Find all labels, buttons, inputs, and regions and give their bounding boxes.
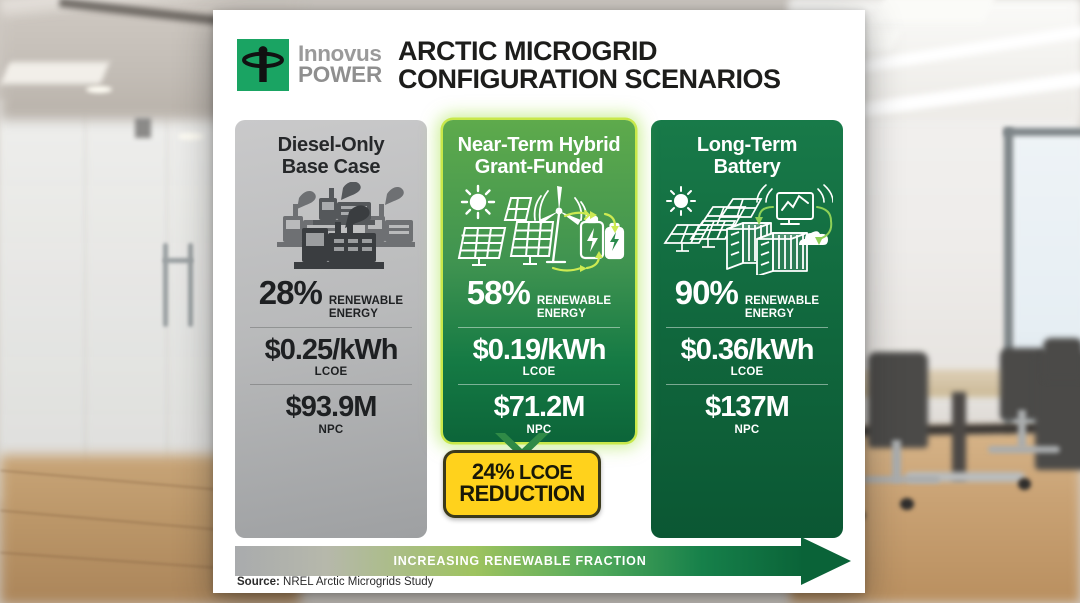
card-title-line1: Near-Term Hybrid: [451, 134, 627, 156]
card-title: Long-Term Battery: [651, 120, 843, 178]
scenario-card-diesel-only-base-case[interactable]: Diesel-Only Base Case: [235, 120, 427, 538]
background-door-handle-bar: [163, 258, 193, 263]
lcoe-label: LCOE: [664, 366, 830, 378]
source-label: Source:: [237, 576, 280, 588]
background-glass-panel: [0, 100, 87, 500]
card-title-line1: Diesel-Only: [243, 134, 419, 156]
background-caster: [900, 498, 914, 510]
lcoe-label: LCOE: [248, 366, 414, 378]
card-title-line2: Battery: [659, 156, 835, 178]
renewable-percent-label: RENEWABLE ENERGY: [329, 295, 403, 321]
background-chair-stem: [1018, 410, 1026, 448]
renewable-percent-value: 28%: [259, 276, 322, 309]
background-door-handle: [188, 243, 193, 327]
brand-wordmark: Innovus POWER: [298, 44, 382, 86]
npc-stat: $93.9M NPC: [248, 385, 414, 441]
lcoe-stat: $0.36/kWh LCOE: [664, 328, 830, 384]
background-door-handle: [163, 243, 168, 327]
background-ceiling-light-panel: [1, 62, 110, 84]
renewable-percent-label: RENEWABLE ENERGY: [537, 295, 611, 321]
lcoe-value: $0.19/kWh: [456, 335, 622, 365]
card-stats: 28% RENEWABLE ENERGY $0.25/kWh LCOE $93.…: [235, 276, 427, 442]
background-downlight: [86, 86, 112, 93]
page-title-line1: ARCTIC MICROGRID: [398, 37, 781, 65]
background-glass-panel: [86, 100, 169, 500]
renewable-percent-value: 90%: [675, 276, 738, 309]
npc-value: $93.9M: [248, 392, 414, 422]
background-caster: [1018, 478, 1031, 490]
card-title-line1: Long-Term: [659, 134, 835, 156]
background-table-leg: [952, 392, 966, 480]
page-title-line2: CONFIGURATION SCENARIOS: [398, 65, 781, 93]
scenario-card-near-term-hybrid-grant-funded[interactable]: Near-Term Hybrid Grant-Funded: [443, 120, 635, 442]
npc-stat: $137M NPC: [664, 385, 830, 441]
solar-battery-storage-monitoring-icon: [651, 180, 843, 276]
npc-value: $137M: [664, 392, 830, 422]
card-title-line2: Grant-Funded: [451, 156, 627, 178]
background-wall-fixture: [135, 118, 151, 138]
diesel-generators-icon: [235, 180, 427, 276]
callout-percent: 24%: [472, 459, 514, 484]
background-ceiling-tile: [874, 0, 997, 22]
right-arrow-icon: [801, 537, 851, 585]
source-value: NREL Arctic Microgrids Study: [280, 576, 434, 588]
solar-wind-battery-icon: [443, 180, 635, 276]
background-chair-base: [862, 476, 940, 483]
lcoe-label: LCOE: [456, 366, 622, 378]
lcoe-value: $0.25/kWh: [248, 335, 414, 365]
renewable-stat: 90% RENEWABLE ENERGY: [664, 276, 830, 327]
renewable-percent-value: 58%: [467, 276, 530, 309]
background-downlight: [178, 133, 204, 140]
card-title-line2: Base Case: [243, 156, 419, 178]
npc-value: $71.2M: [456, 392, 622, 422]
increasing-renewable-fraction-arrow: INCREASING RENEWABLE FRACTION: [235, 542, 875, 580]
card-stats: 90% RENEWABLE ENERGY $0.36/kWh LCOE $137…: [651, 276, 843, 442]
card-title: Near-Term Hybrid Grant-Funded: [443, 120, 635, 178]
lcoe-reduction-badge: 24% LCOE REDUCTION: [443, 450, 601, 518]
renewable-stat: 58% RENEWABLE ENERGY: [456, 276, 622, 327]
card-stats: 58% RENEWABLE ENERGY $0.19/kWh LCOE $71.…: [443, 276, 635, 442]
header: Innovus POWER ARCTIC MICROGRID CONFIGURA…: [237, 37, 781, 93]
lcoe-stat: $0.19/kWh LCOE: [456, 328, 622, 384]
brand-logo[interactable]: Innovus POWER: [237, 39, 382, 91]
brand-name-line2: POWER: [298, 65, 382, 86]
arrow-label: INCREASING RENEWABLE FRACTION: [235, 546, 805, 576]
infographic-sheet: Innovus POWER ARCTIC MICROGRID CONFIGURA…: [213, 10, 865, 593]
lcoe-reduction-callout[interactable]: 24% LCOE REDUCTION: [443, 450, 601, 518]
page-title: ARCTIC MICROGRID CONFIGURATION SCENARIOS: [398, 37, 781, 93]
callout-line1: 24% LCOE: [452, 461, 592, 483]
lcoe-value: $0.36/kWh: [664, 335, 830, 365]
card-title: Diesel-Only Base Case: [235, 120, 427, 178]
npc-label: NPC: [664, 424, 830, 436]
lcoe-stat: $0.25/kWh LCOE: [248, 328, 414, 384]
source-note: Source: NREL Arctic Microgrids Study: [237, 576, 433, 588]
background-chair-base: [988, 446, 1060, 453]
scenario-card-long-term-battery[interactable]: Long-Term Battery: [651, 120, 843, 538]
innovus-power-mark-icon: [237, 39, 289, 91]
npc-label: NPC: [248, 424, 414, 436]
renewable-stat: 28% RENEWABLE ENERGY: [248, 276, 414, 327]
background-window-frame-top: [1004, 128, 1080, 136]
background-chair: [868, 352, 928, 448]
renewable-percent-label: RENEWABLE ENERGY: [745, 295, 819, 321]
callout-line2: REDUCTION: [452, 483, 592, 505]
background-chair: [1043, 338, 1080, 380]
